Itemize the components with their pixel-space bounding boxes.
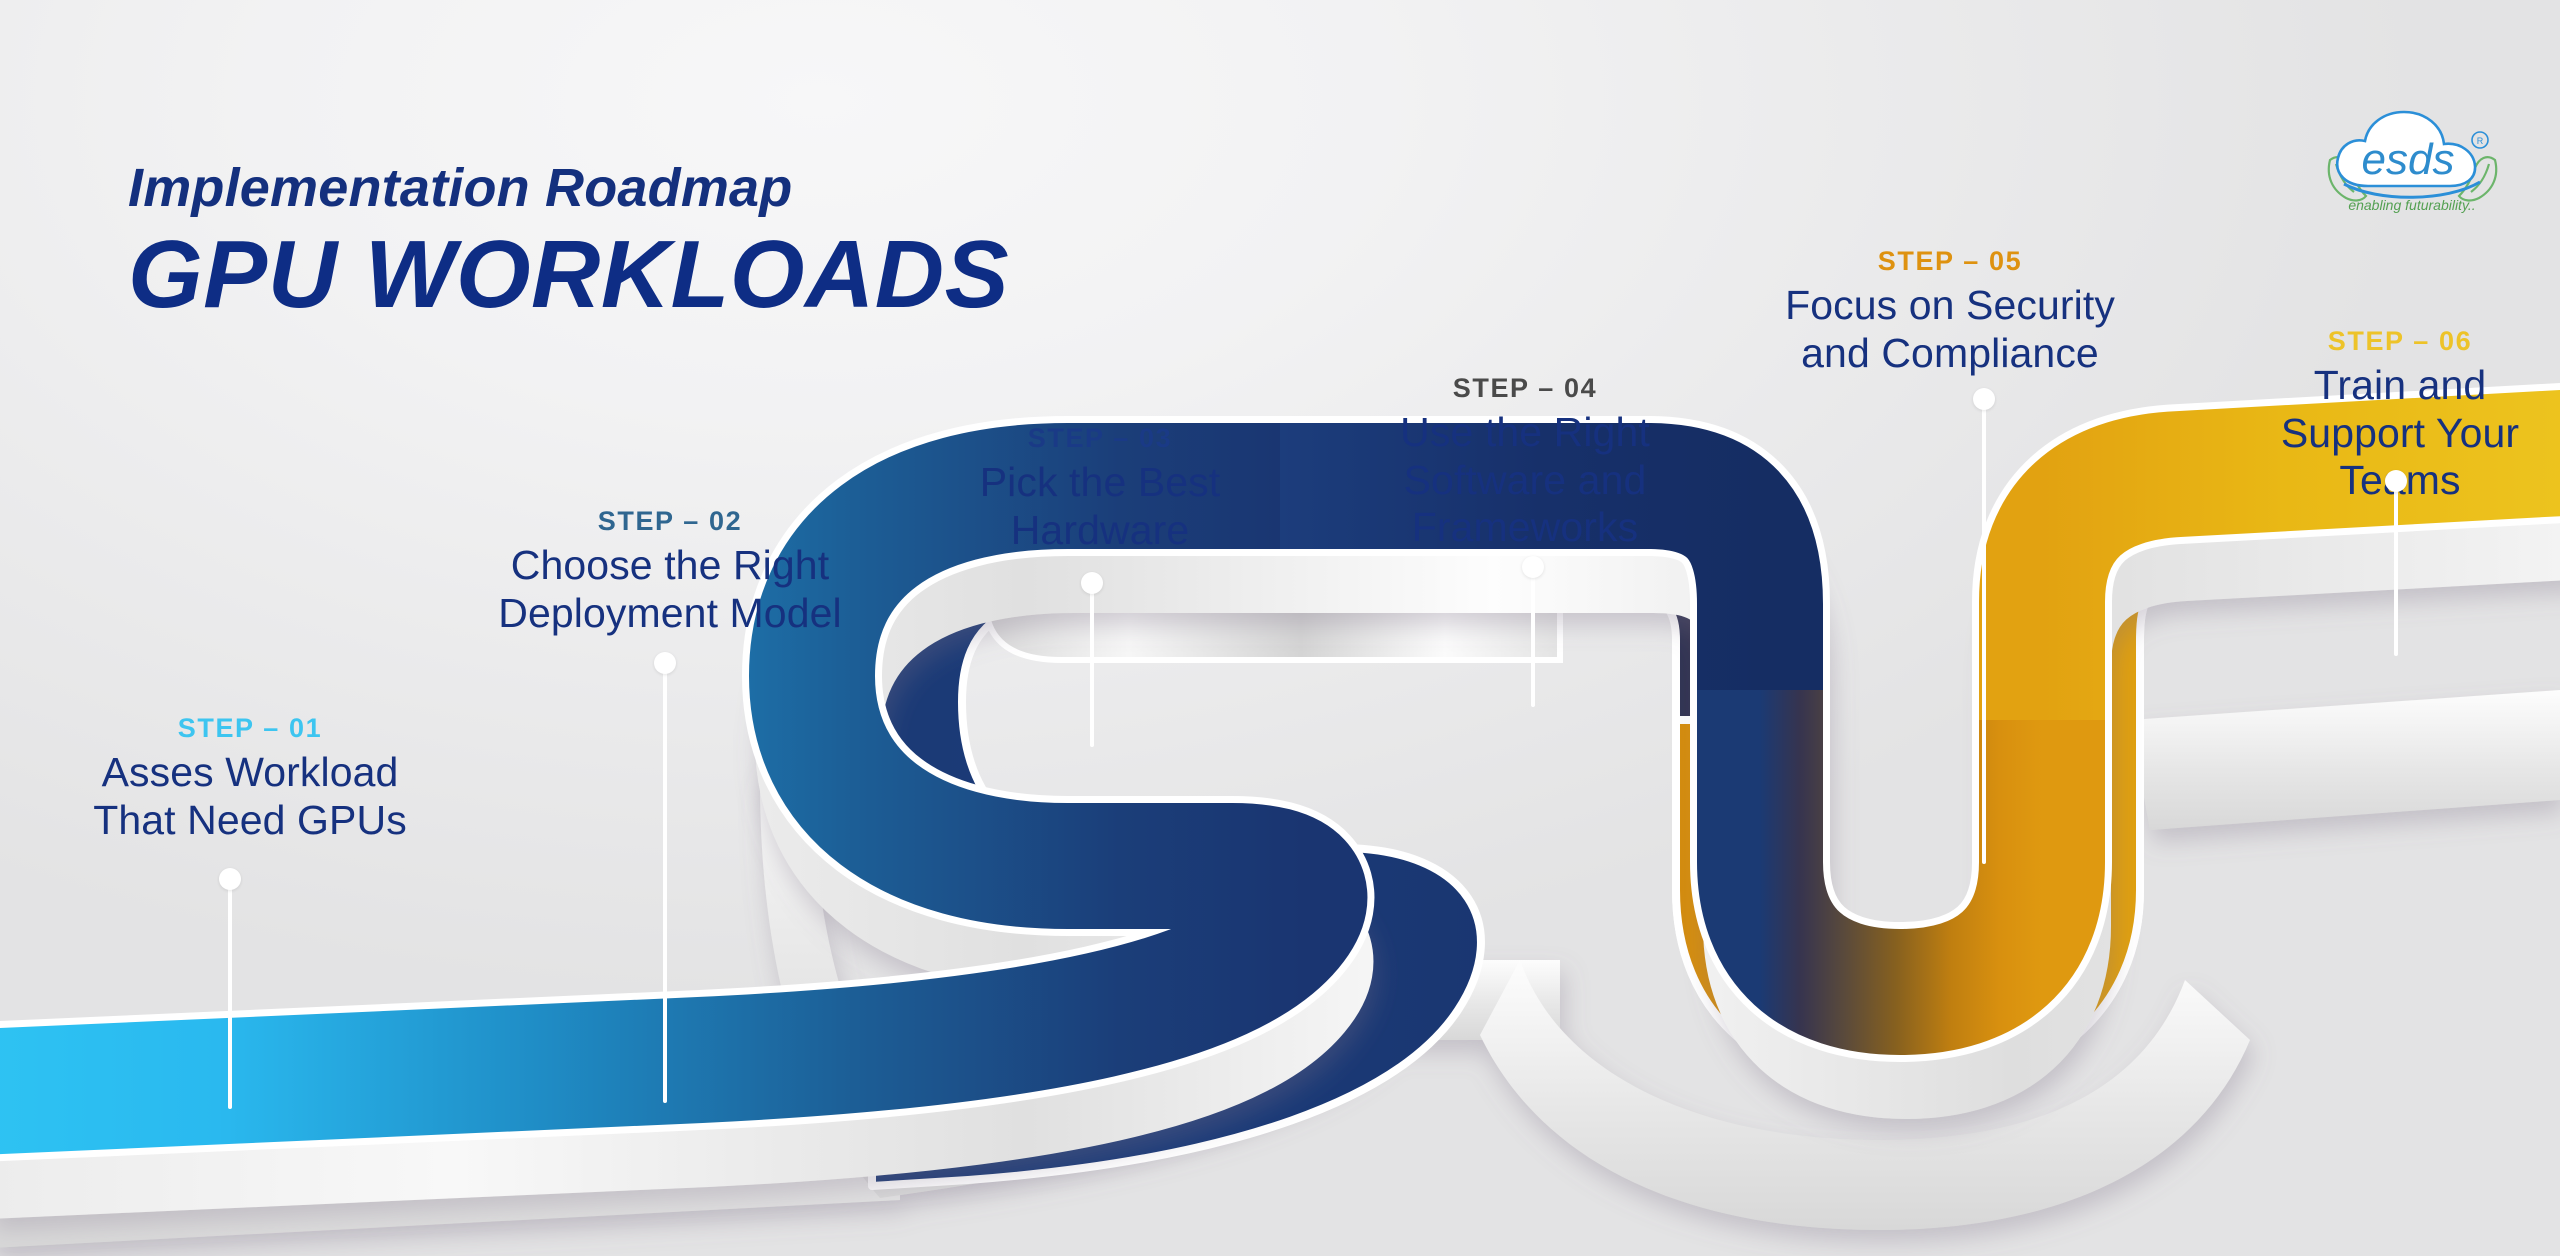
step-label-5: STEP – 05Focus on Security and Complianc… bbox=[1740, 245, 2160, 377]
logo-wordmark: esds bbox=[2362, 135, 2455, 184]
step-pointer-4[interactable] bbox=[1522, 556, 1544, 718]
step-pointer-6[interactable] bbox=[2385, 470, 2407, 667]
pointer-dot-icon-4 bbox=[1522, 556, 1544, 578]
step-pointer-1[interactable] bbox=[219, 868, 241, 1120]
step-title-4: Use the Right Software and Frameworks bbox=[1360, 409, 1690, 552]
pointer-stem-6 bbox=[2394, 481, 2398, 656]
title-block: Implementation Roadmap GPU WORKLOADS bbox=[128, 160, 1009, 325]
pointer-dot-icon-3 bbox=[1081, 572, 1103, 594]
pointer-stem-4 bbox=[1531, 567, 1535, 707]
step-number-4: STEP – 04 bbox=[1360, 372, 1690, 404]
step-number-5: STEP – 05 bbox=[1740, 245, 2160, 277]
logo-tagline: enabling futurability.. bbox=[2348, 197, 2475, 213]
step-pointer-2[interactable] bbox=[654, 652, 676, 1114]
pointer-stem-3 bbox=[1090, 583, 1094, 747]
step-label-3: STEP – 03Pick the Best Hardware bbox=[940, 422, 1260, 554]
step-pointer-5[interactable] bbox=[1973, 388, 1995, 875]
pointer-dot-icon-6 bbox=[2385, 470, 2407, 492]
step-title-5: Focus on Security and Compliance bbox=[1740, 282, 2160, 377]
infographic-canvas: Implementation Roadmap GPU WORKLOADS esd… bbox=[0, 0, 2560, 1256]
esds-logo[interactable]: esds R enabling futurability.. bbox=[2320, 98, 2505, 218]
pointer-stem-2 bbox=[663, 663, 667, 1103]
step-title-2: Choose the Right Deployment Model bbox=[440, 542, 900, 637]
registered-icon: R bbox=[2472, 132, 2488, 148]
page-kicker: Implementation Roadmap bbox=[128, 160, 1009, 217]
step-number-2: STEP – 02 bbox=[440, 505, 900, 537]
pointer-dot-icon-1 bbox=[219, 868, 241, 890]
step-label-4: STEP – 04Use the Right Software and Fram… bbox=[1360, 372, 1690, 552]
svg-text:R: R bbox=[2477, 136, 2484, 146]
step-title-3: Pick the Best Hardware bbox=[940, 459, 1260, 554]
step-number-3: STEP – 03 bbox=[940, 422, 1260, 454]
pointer-dot-icon-2 bbox=[654, 652, 676, 674]
step-pointer-3[interactable] bbox=[1081, 572, 1103, 758]
pointer-dot-icon-5 bbox=[1973, 388, 1995, 410]
pointer-stem-1 bbox=[228, 879, 232, 1109]
step-title-1: Asses Workload That Need GPUs bbox=[40, 749, 460, 844]
step-label-1: STEP – 01Asses Workload That Need GPUs bbox=[40, 712, 460, 844]
step-label-2: STEP – 02Choose the Right Deployment Mod… bbox=[440, 505, 900, 637]
step-number-1: STEP – 01 bbox=[40, 712, 460, 744]
step-number-6: STEP – 06 bbox=[2255, 325, 2545, 357]
pointer-stem-5 bbox=[1982, 399, 1986, 864]
page-title: GPU WORKLOADS bbox=[128, 225, 1009, 326]
